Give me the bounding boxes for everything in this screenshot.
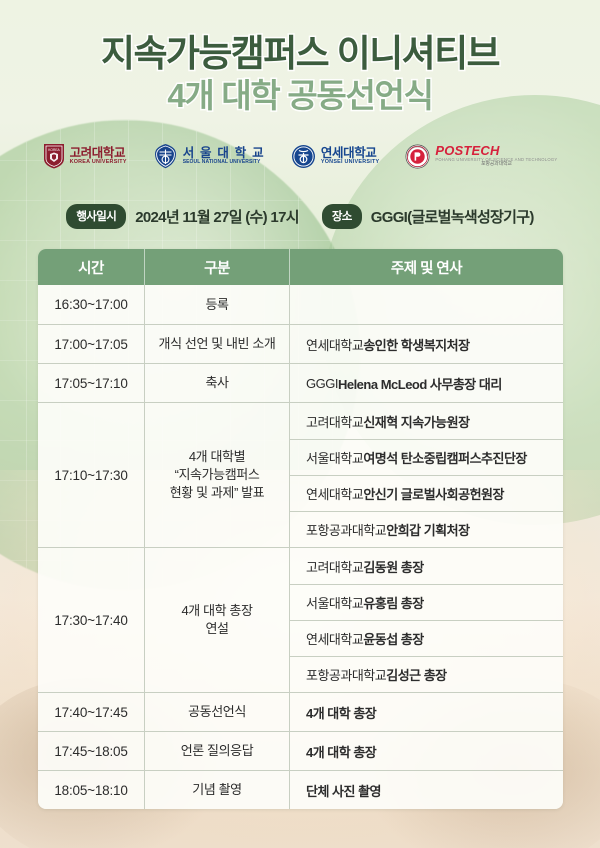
yonsei-university-wordmark: 연세대학교 YONSEI UNIVERSITY xyxy=(321,147,379,166)
cell-category: 등록 xyxy=(145,285,290,324)
poster-canvas: 지속가능캠퍼스 이니셔티브 4개 대학 공동선언식 KOREA 고려대학교 KO… xyxy=(0,0,600,848)
topic-organization: 포항공과대학교 xyxy=(306,520,386,539)
cell-category: 개식 선언 및 내빈 소개 xyxy=(145,325,290,363)
topic-organization: 포항공과대학교 xyxy=(306,665,386,684)
cell-topic: GGGI Helena McLeod 사무총장 대리 xyxy=(290,364,563,402)
topic-speaker: 단체 사진 촬영 xyxy=(306,781,381,800)
topic-organization: 연세대학교 xyxy=(306,629,363,648)
seoul-national-university-name-ko: 서 울 대 학 교 xyxy=(183,147,265,160)
cell-time: 16:30~17:00 xyxy=(38,285,145,324)
seoul-national-university-wordmark: 서 울 대 학 교 SEOUL NATIONAL UNIVERSITY xyxy=(183,147,265,165)
cell-topic: 4개 대학 총장 xyxy=(290,693,563,731)
logo-seoul-national-university: 서 울 대 학 교 SEOUL NATIONAL UNIVERSITY xyxy=(153,143,265,169)
topic-speaker: 김성근 총장 xyxy=(386,665,446,684)
topic-speaker: Helena McLeod 사무총장 대리 xyxy=(338,374,502,393)
cell-topic-group: 고려대학교 김동원 총장서울대학교 유홍림 총장연세대학교 윤동섭 총장포항공과… xyxy=(290,548,563,692)
university-logo-row: KOREA 고려대학교 KOREA UNIVERSITY 서 xyxy=(0,143,600,169)
event-info-bar: 행사일시 2024년 11월 27일 (수) 17시 장소 GGGI(글로벌녹색… xyxy=(0,204,600,229)
cell-time: 17:45~18:05 xyxy=(38,732,145,770)
list-item: 포항공과대학교 안희갑 기획처장 xyxy=(290,511,563,547)
korea-university-shield-icon: KOREA xyxy=(43,143,65,169)
event-place-value: GGGI(글로벌녹색성장기구) xyxy=(371,206,534,227)
poster-title-line-2: 4개 대학 공동선언식 xyxy=(0,78,600,115)
cell-category: 기념 촬영 xyxy=(145,771,290,809)
table-row: 17:05~17:10축사GGGI Helena McLeod 사무총장 대리 xyxy=(38,363,563,402)
cell-category: 축사 xyxy=(145,364,290,402)
topic-organization: 서울대학교 xyxy=(306,593,363,612)
logo-korea-university: KOREA 고려대학교 KOREA UNIVERSITY xyxy=(43,143,127,169)
topic-speaker: 4개 대학 총장 xyxy=(306,742,376,761)
postech-name-ko: 포항공과대학교 xyxy=(435,162,557,167)
cell-topic xyxy=(290,285,563,324)
postech-name-en: POSTECH xyxy=(435,144,557,158)
logo-yonsei-university: 연세대학교 YONSEI UNIVERSITY xyxy=(291,144,379,169)
topic-organization: 서울대학교 xyxy=(306,448,363,467)
logo-postech: POSTECH POHANG UNIVERSITY OF SCIENCE AND… xyxy=(405,144,557,169)
poster-title-line-1: 지속가능캠퍼스 이니셔티브 xyxy=(0,33,600,74)
topic-organization: 연세대학교 xyxy=(306,484,363,503)
cell-category: 공동선언식 xyxy=(145,693,290,731)
cell-category: 4개 대학 총장연설 xyxy=(145,548,290,692)
list-item: 연세대학교 윤동섭 총장 xyxy=(290,620,563,656)
topic-speaker: 여명석 탄소중립캠퍼스추진단장 xyxy=(363,448,527,467)
postech-seal-icon xyxy=(405,144,430,169)
cell-time: 17:00~17:05 xyxy=(38,325,145,363)
topic-organization: 고려대학교 xyxy=(306,412,363,431)
table-row: 18:05~18:10기념 촬영단체 사진 촬영 xyxy=(38,770,563,809)
table-row: 16:30~17:00등록 xyxy=(38,285,563,324)
schedule-table-body: 16:30~17:00등록17:00~17:05개식 선언 및 내빈 소개연세대… xyxy=(38,285,563,809)
topic-speaker: 안희갑 기획처장 xyxy=(386,520,469,539)
table-row: 17:40~17:45공동선언식4개 대학 총장 xyxy=(38,692,563,731)
table-row: 17:00~17:05개식 선언 및 내빈 소개연세대학교 송인한 학생복지처장 xyxy=(38,324,563,363)
cell-time: 18:05~18:10 xyxy=(38,771,145,809)
seoul-national-university-seal-icon xyxy=(153,143,178,169)
yonsei-university-name-en: YONSEI UNIVERSITY xyxy=(321,160,379,166)
korea-university-name-ko: 고려대학교 xyxy=(70,147,127,160)
cell-topic: 단체 사진 촬영 xyxy=(290,771,563,809)
schedule-table: 시간 구분 주제 및 연사 16:30~17:00등록17:00~17:05개식… xyxy=(38,249,563,809)
cell-time: 17:40~17:45 xyxy=(38,693,145,731)
list-item: 고려대학교 김동원 총장 xyxy=(290,548,563,584)
list-item: 서울대학교 유홍림 총장 xyxy=(290,584,563,620)
topic-organization: 연세대학교 xyxy=(306,335,363,354)
column-header-time: 시간 xyxy=(38,249,145,285)
table-row: 17:45~18:05언론 질의응답4개 대학 총장 xyxy=(38,731,563,770)
postech-wordmark: POSTECH POHANG UNIVERSITY OF SCIENCE AND… xyxy=(435,144,557,167)
column-header-category: 구분 xyxy=(145,249,290,285)
event-place-label: 장소 xyxy=(322,204,362,229)
seoul-national-university-name-en: SEOUL NATIONAL UNIVERSITY xyxy=(183,160,265,165)
list-item: 연세대학교 안신기 글로벌사회공헌원장 xyxy=(290,475,563,511)
topic-speaker: 유홍림 총장 xyxy=(363,593,423,612)
event-date-label: 행사일시 xyxy=(66,204,126,229)
cell-category: 언론 질의응답 xyxy=(145,732,290,770)
topic-speaker: 안신기 글로벌사회공헌원장 xyxy=(363,484,504,503)
column-header-topic: 주제 및 연사 xyxy=(290,249,563,285)
list-item: 포항공과대학교 김성근 총장 xyxy=(290,656,563,692)
cell-topic: 4개 대학 총장 xyxy=(290,732,563,770)
event-date-value: 2024년 11월 27일 (수) 17시 xyxy=(135,206,299,227)
topic-organization: 고려대학교 xyxy=(306,557,363,576)
topic-speaker: 김동원 총장 xyxy=(363,557,423,576)
poster-headline: 지속가능캠퍼스 이니셔티브 4개 대학 공동선언식 xyxy=(0,33,600,115)
schedule-table-header: 시간 구분 주제 및 연사 xyxy=(38,249,563,285)
cell-time: 17:30~17:40 xyxy=(38,548,145,692)
topic-organization: GGGI xyxy=(306,376,338,391)
yonsei-university-seal-icon xyxy=(291,144,316,169)
topic-speaker: 송인한 학생복지처장 xyxy=(363,335,469,354)
table-row: 17:30~17:404개 대학 총장연설고려대학교 김동원 총장서울대학교 유… xyxy=(38,547,563,692)
svg-text:KOREA: KOREA xyxy=(48,148,60,152)
list-item: 고려대학교 신재혁 지속가능원장 xyxy=(290,403,563,439)
topic-speaker: 4개 대학 총장 xyxy=(306,703,376,722)
korea-university-name-en: KOREA UNIVERSITY xyxy=(70,160,127,166)
topic-speaker: 윤동섭 총장 xyxy=(363,629,423,648)
yonsei-university-name-ko: 연세대학교 xyxy=(321,147,379,160)
cell-category: 4개 대학별“지속가능캠퍼스현황 및 과제” 발표 xyxy=(145,403,290,547)
cell-topic-group: 고려대학교 신재혁 지속가능원장서울대학교 여명석 탄소중립캠퍼스추진단장연세대… xyxy=(290,403,563,547)
table-row: 17:10~17:304개 대학별“지속가능캠퍼스현황 및 과제” 발표고려대학… xyxy=(38,402,563,547)
cell-topic: 연세대학교 송인한 학생복지처장 xyxy=(290,325,563,363)
cell-time: 17:10~17:30 xyxy=(38,403,145,547)
cell-time: 17:05~17:10 xyxy=(38,364,145,402)
topic-speaker: 신재혁 지속가능원장 xyxy=(363,412,469,431)
list-item: 서울대학교 여명석 탄소중립캠퍼스추진단장 xyxy=(290,439,563,475)
korea-university-wordmark: 고려대학교 KOREA UNIVERSITY xyxy=(70,147,127,166)
